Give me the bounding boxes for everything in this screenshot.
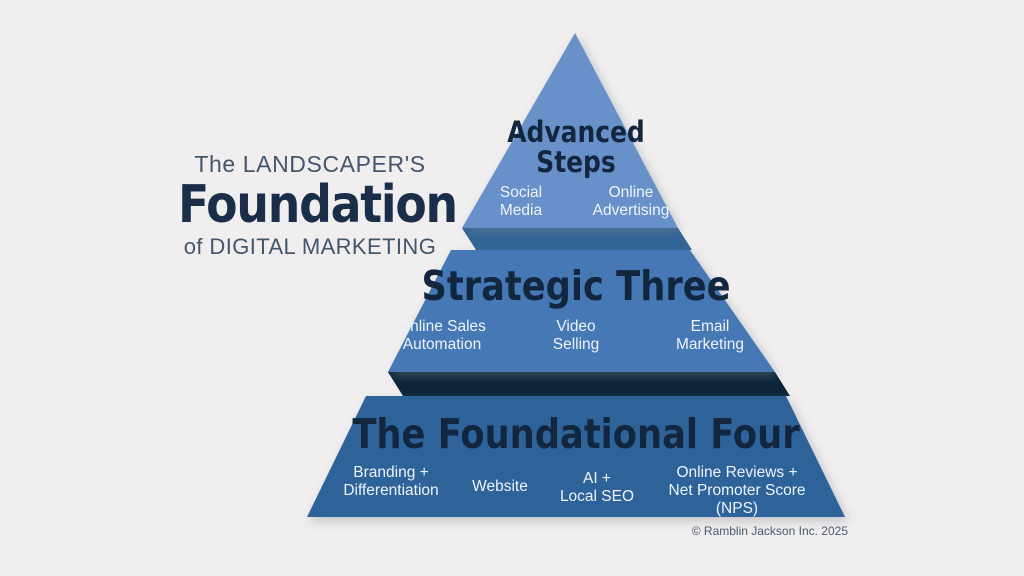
tier-face-advanced-steps	[462, 33, 678, 228]
tier-face-strategic-three	[388, 250, 775, 372]
tier-bevel-strategic	[388, 372, 790, 396]
pyramid-graphic	[0, 0, 1024, 576]
infographic-canvas: The LANDSCAPER'S Foundation of DIGITAL M…	[0, 0, 1024, 576]
tier-bevel-advanced	[462, 228, 692, 250]
tier-face-foundational-four	[307, 396, 845, 517]
copyright-notice: © Ramblin Jackson Inc. 2025	[692, 524, 848, 538]
